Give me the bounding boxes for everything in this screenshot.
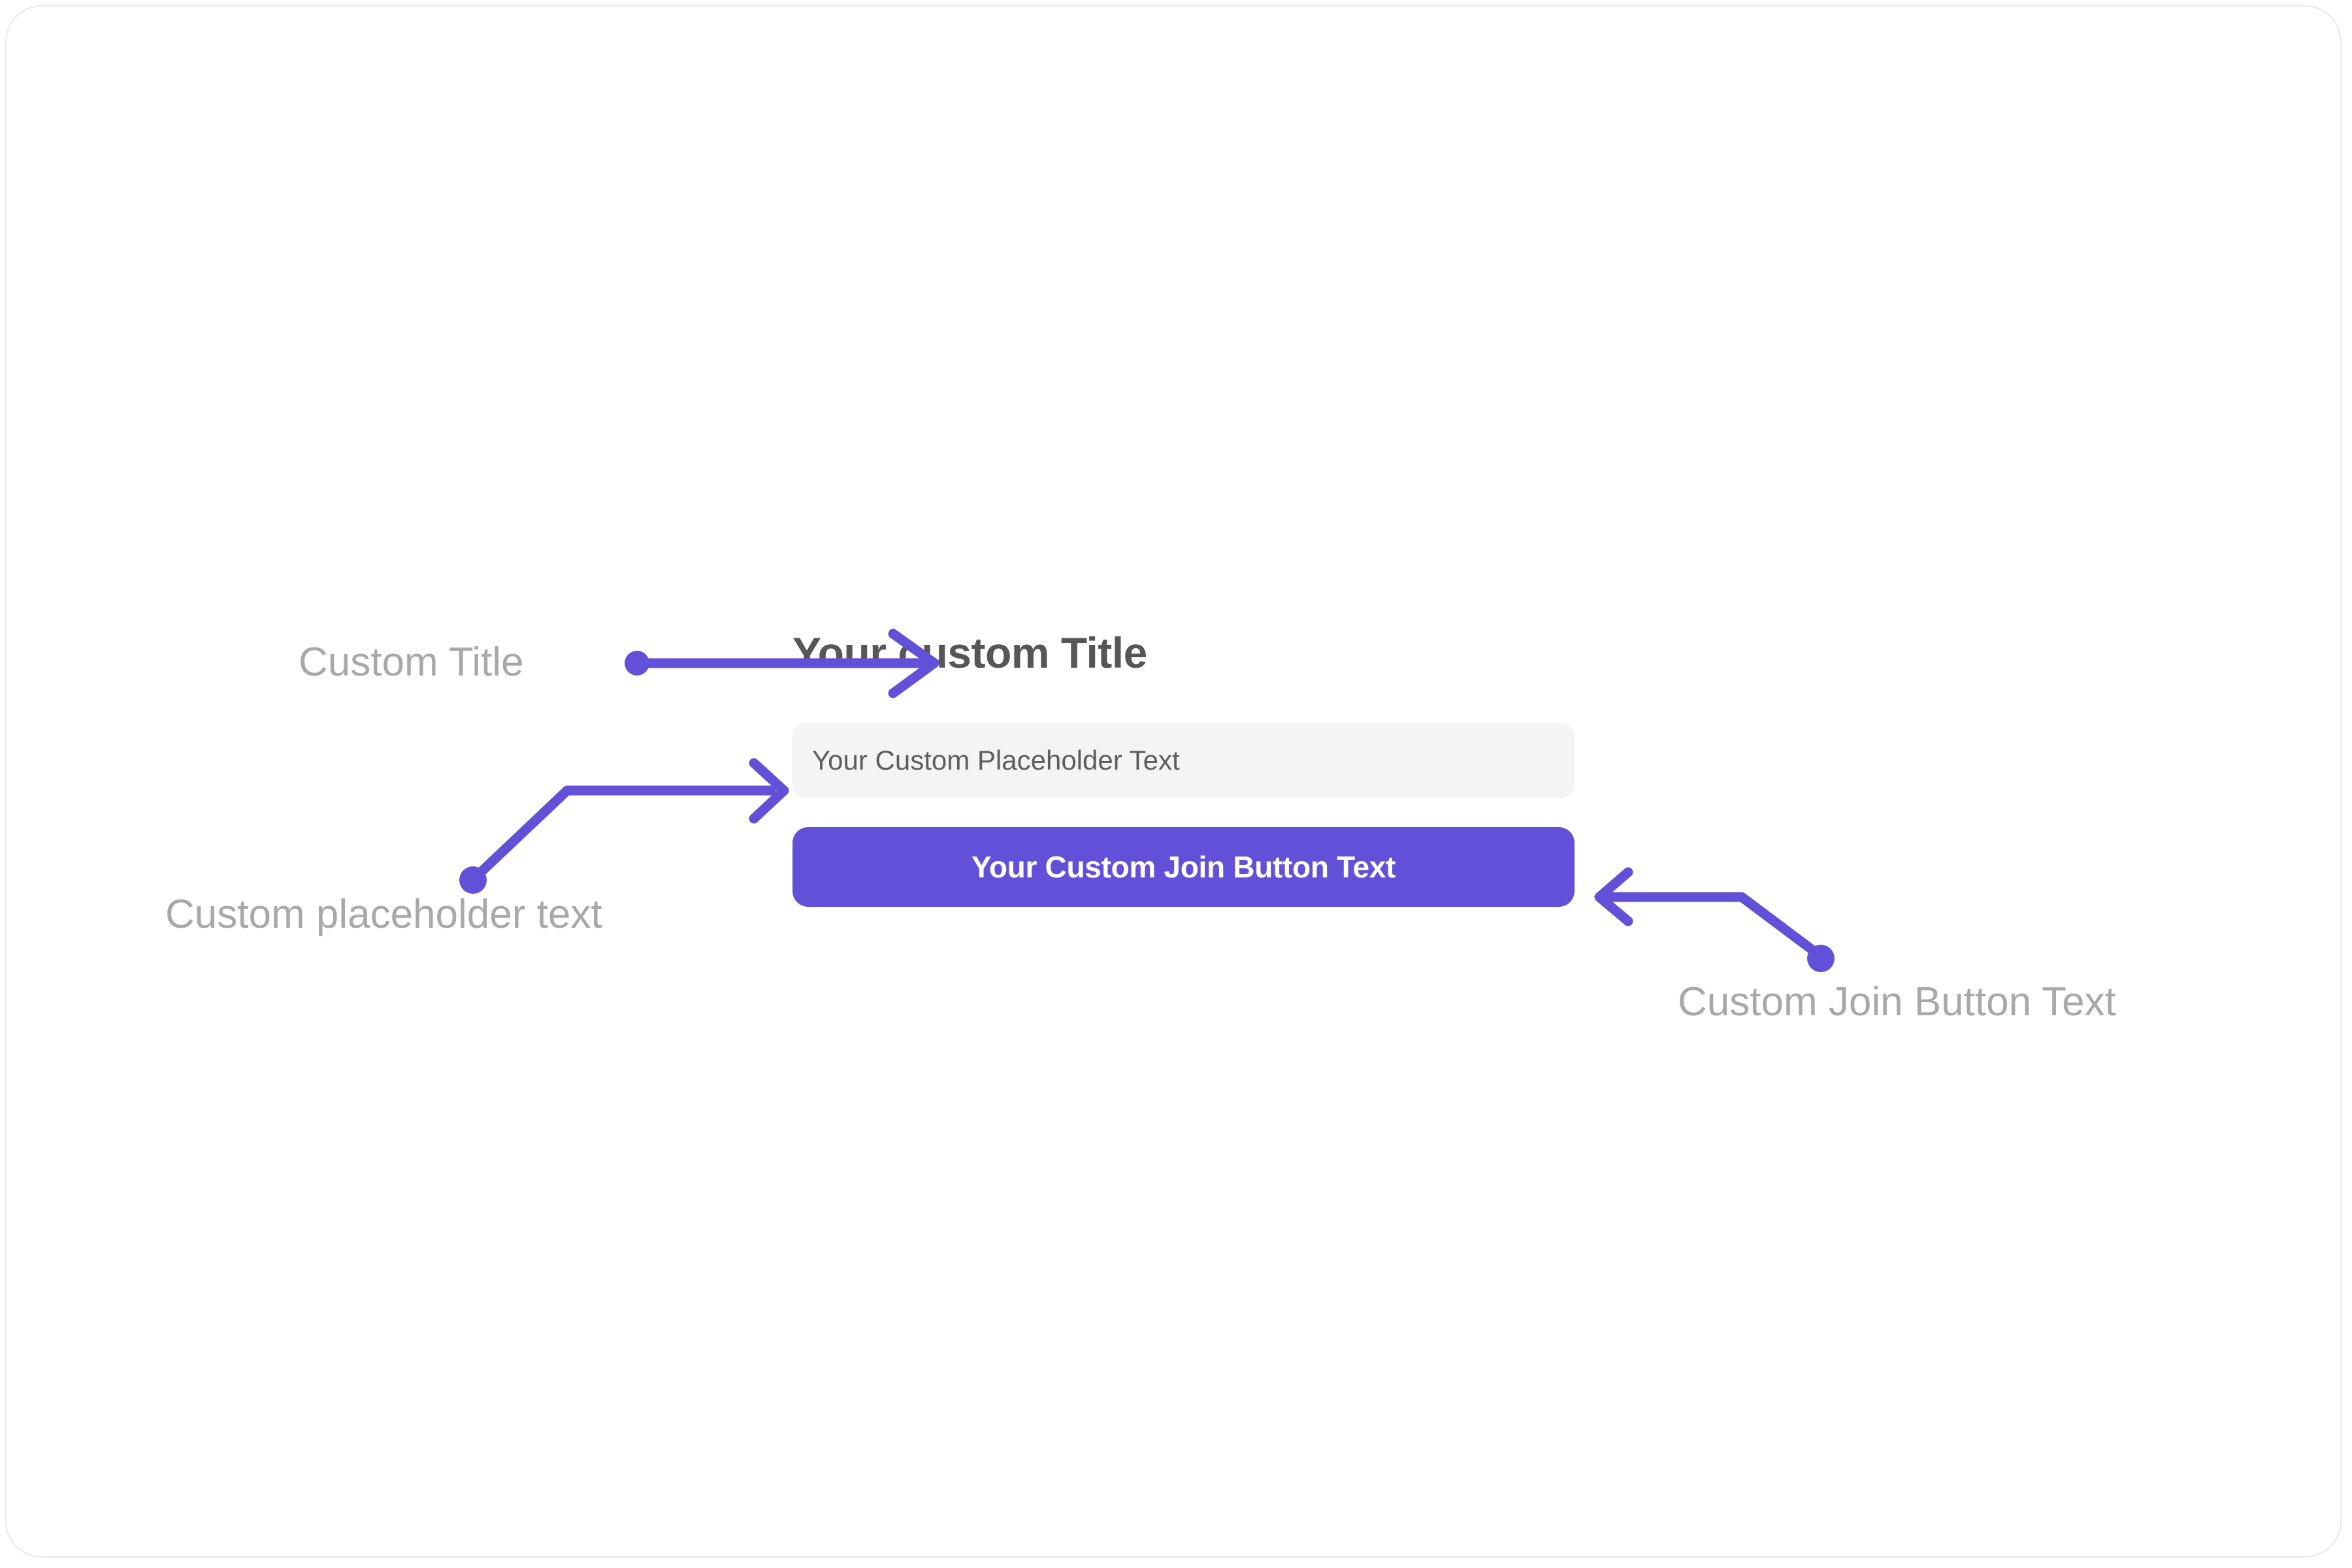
callout-label-custom-title: Custom Title: [299, 638, 524, 687]
arrowhead-left-icon: [1599, 872, 1628, 921]
connector-line-placeholder: [482, 791, 771, 872]
connector-line-join-button: [1603, 897, 1812, 950]
connector-arrow-placeholder: [459, 763, 784, 894]
connector-dot-title: [625, 651, 649, 676]
signup-widget: Your custom Title Your Custom Join Butto…: [792, 627, 1575, 907]
callout-label-custom-join-button-text: Custom Join Button Text: [1678, 978, 2116, 1026]
arrowhead-right-icon: [754, 763, 784, 819]
connector-dot-placeholder: [459, 866, 487, 894]
connector-arrow-join-button: [1599, 872, 1835, 972]
annotation-canvas: Your custom Title Your Custom Join Butto…: [5, 5, 2342, 1558]
email-field[interactable]: [792, 723, 1575, 798]
connector-dot-join-button: [1807, 945, 1835, 972]
callout-label-custom-placeholder-text: Custom placeholder text: [165, 890, 602, 939]
join-button[interactable]: Your Custom Join Button Text: [792, 827, 1575, 907]
page-title: Your custom Title: [792, 627, 1575, 678]
